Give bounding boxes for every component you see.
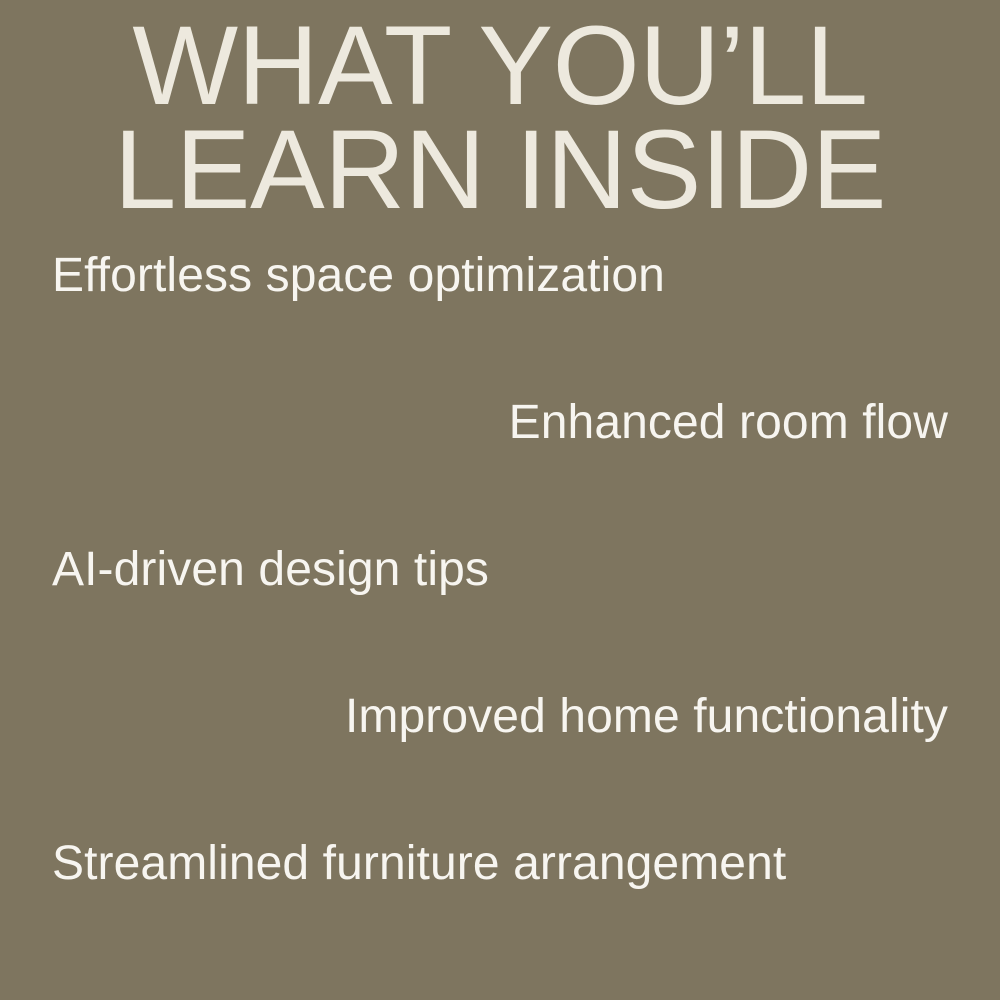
list-item: Enhanced room flow bbox=[52, 395, 948, 542]
what-youll-learn-slide: WHAT YOU’LL LEARN INSIDE Effortless spac… bbox=[0, 0, 1000, 1000]
page-title: WHAT YOU’LL LEARN INSIDE bbox=[0, 14, 1000, 222]
list-item: Improved home functionality bbox=[52, 689, 948, 836]
page-title-line-2: LEARN INSIDE bbox=[40, 118, 960, 222]
list-item-label: Enhanced room flow bbox=[509, 395, 948, 452]
list-item-label: Improved home functionality bbox=[345, 689, 948, 746]
benefits-list: Effortless space optimization Enhanced r… bbox=[0, 248, 1000, 983]
list-item: Effortless space optimization bbox=[52, 248, 948, 395]
page-title-line-1: WHAT YOU’LL bbox=[40, 14, 960, 118]
list-item: Streamlined furniture arrangement bbox=[52, 836, 948, 983]
list-item-label: Effortless space optimization bbox=[52, 248, 665, 305]
list-item-label: Streamlined furniture arrangement bbox=[52, 836, 786, 893]
list-item: AI-driven design tips bbox=[52, 542, 948, 689]
list-item-label: AI-driven design tips bbox=[52, 542, 489, 599]
